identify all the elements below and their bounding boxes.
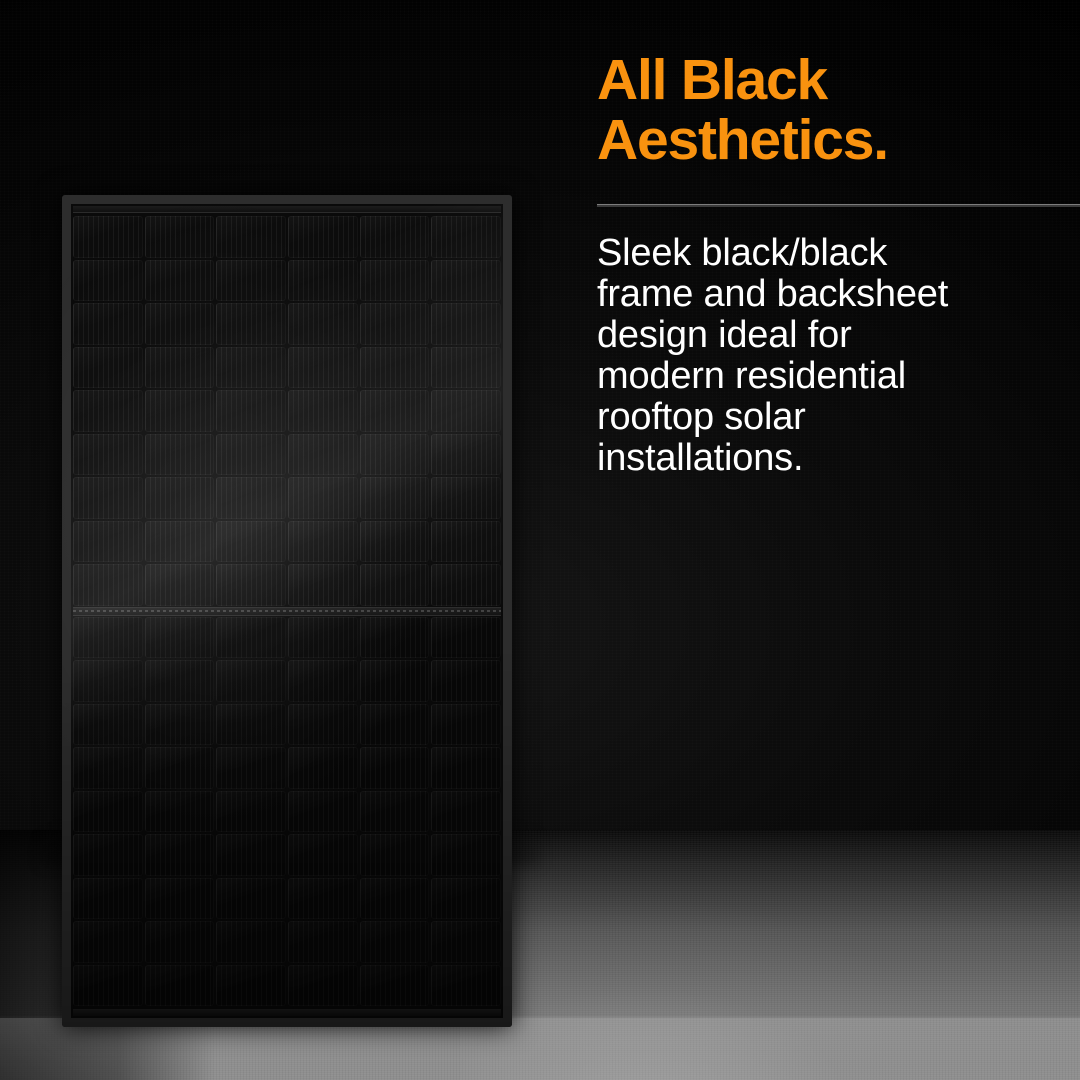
- solar-cell: [73, 791, 143, 833]
- solar-cell: [73, 521, 143, 563]
- solar-cell: [360, 477, 430, 519]
- panel-laminate-area: [71, 204, 503, 1018]
- solar-cell: [73, 617, 143, 659]
- solar-cell: [145, 564, 215, 606]
- solar-cell: [145, 390, 215, 432]
- solar-cell: [288, 521, 358, 563]
- solar-cell: [73, 564, 143, 606]
- solar-cell: [360, 303, 430, 345]
- solar-cell: [73, 878, 143, 920]
- solar-cell: [145, 260, 215, 302]
- solar-cell: [73, 216, 143, 258]
- cell-row: [73, 433, 501, 477]
- solar-cell: [73, 965, 143, 1007]
- solar-cell: [288, 834, 358, 876]
- headline-divider: [597, 204, 1080, 207]
- solar-cell: [145, 617, 215, 659]
- solar-cell: [431, 791, 501, 833]
- solar-cell: [360, 965, 430, 1007]
- solar-cell: [431, 660, 501, 702]
- solar-cell: [216, 260, 286, 302]
- solar-cell: [216, 477, 286, 519]
- cell-row: [73, 964, 501, 1008]
- body-line-1: Sleek black/black: [597, 233, 1067, 274]
- solar-cell: [73, 347, 143, 389]
- solar-cell: [216, 617, 286, 659]
- solar-cell: [145, 521, 215, 563]
- solar-cell: [73, 834, 143, 876]
- cell-row: [73, 389, 501, 433]
- solar-cell: [73, 747, 143, 789]
- solar-cell: [216, 216, 286, 258]
- solar-cell: [431, 564, 501, 606]
- solar-cell: [360, 260, 430, 302]
- panel-center-busbar: [73, 607, 501, 616]
- solar-cell: [145, 878, 215, 920]
- solar-cell: [431, 747, 501, 789]
- cell-row: [73, 833, 501, 877]
- solar-cell: [360, 564, 430, 606]
- solar-cell: [360, 216, 430, 258]
- solar-cell: [431, 617, 501, 659]
- solar-cell: [145, 791, 215, 833]
- solar-cell: [288, 791, 358, 833]
- text-content-column: All Black Aesthetics. Sleek black/black …: [597, 0, 1080, 1080]
- solar-cell: [73, 477, 143, 519]
- body-copy: Sleek black/black frame and backsheet de…: [597, 233, 1067, 479]
- solar-cell: [216, 921, 286, 963]
- solar-cell: [216, 434, 286, 476]
- solar-cell: [360, 921, 430, 963]
- solar-cell: [431, 216, 501, 258]
- solar-cell: [73, 390, 143, 432]
- solar-cell: [431, 434, 501, 476]
- cell-row: [73, 703, 501, 747]
- solar-cell: [288, 660, 358, 702]
- body-line-6: installations.: [597, 438, 1067, 479]
- solar-cell: [145, 747, 215, 789]
- body-line-3: design ideal for: [597, 315, 1067, 356]
- cell-row: [73, 520, 501, 564]
- solar-cell: [360, 660, 430, 702]
- panel-bottom-busbar: [73, 1009, 501, 1016]
- cell-row: [73, 746, 501, 790]
- cell-row: [73, 920, 501, 964]
- solar-cell: [145, 216, 215, 258]
- solar-cell: [431, 878, 501, 920]
- cell-half-lower: [73, 616, 501, 1008]
- headline-line-2: Aesthetics.: [597, 110, 997, 170]
- solar-cell: [431, 521, 501, 563]
- body-line-4: modern residential: [597, 356, 1067, 397]
- solar-cell: [288, 260, 358, 302]
- scene-stage: All Black Aesthetics. Sleek black/black …: [0, 0, 1080, 1080]
- solar-cell: [360, 390, 430, 432]
- cell-row: [73, 616, 501, 660]
- solar-cell: [288, 704, 358, 746]
- solar-cell: [288, 477, 358, 519]
- panel-top-busbar: [73, 206, 501, 213]
- cell-row: [73, 659, 501, 703]
- solar-cell: [288, 921, 358, 963]
- solar-cell: [288, 747, 358, 789]
- solar-cell: [145, 660, 215, 702]
- solar-cell: [216, 747, 286, 789]
- solar-cell: [73, 704, 143, 746]
- headline: All Black Aesthetics.: [597, 50, 997, 170]
- solar-cell: [216, 704, 286, 746]
- solar-cell: [288, 878, 358, 920]
- solar-cell: [216, 303, 286, 345]
- solar-cell: [431, 834, 501, 876]
- solar-cell: [145, 704, 215, 746]
- solar-cell: [145, 434, 215, 476]
- solar-cell: [360, 617, 430, 659]
- solar-cell: [216, 791, 286, 833]
- solar-cell: [288, 390, 358, 432]
- solar-cell: [145, 347, 215, 389]
- cell-row: [73, 215, 501, 259]
- solar-cell: [216, 390, 286, 432]
- solar-cell: [73, 921, 143, 963]
- solar-cell: [431, 260, 501, 302]
- solar-cell-grid: [73, 215, 501, 1007]
- solar-cell: [360, 347, 430, 389]
- solar-cell: [145, 477, 215, 519]
- solar-cell: [216, 521, 286, 563]
- solar-cell: [288, 303, 358, 345]
- cell-half-upper: [73, 215, 501, 607]
- solar-cell: [216, 347, 286, 389]
- solar-cell: [145, 965, 215, 1007]
- solar-cell: [360, 521, 430, 563]
- cell-row: [73, 259, 501, 303]
- solar-cell: [73, 434, 143, 476]
- body-line-2: frame and backsheet: [597, 274, 1067, 315]
- solar-cell: [145, 834, 215, 876]
- cell-row: [73, 302, 501, 346]
- solar-panel-product-image: [62, 195, 512, 1027]
- solar-cell: [216, 834, 286, 876]
- solar-cell: [73, 260, 143, 302]
- solar-cell: [288, 617, 358, 659]
- solar-cell: [431, 303, 501, 345]
- cell-row: [73, 877, 501, 921]
- solar-cell: [431, 347, 501, 389]
- cell-row: [73, 476, 501, 520]
- solar-cell: [288, 434, 358, 476]
- solar-cell: [360, 834, 430, 876]
- solar-cell: [288, 564, 358, 606]
- solar-cell: [145, 921, 215, 963]
- solar-cell: [288, 347, 358, 389]
- solar-cell: [73, 303, 143, 345]
- solar-cell: [216, 878, 286, 920]
- solar-cell: [145, 303, 215, 345]
- cell-row: [73, 346, 501, 390]
- solar-cell: [431, 965, 501, 1007]
- solar-cell: [360, 747, 430, 789]
- solar-cell: [73, 660, 143, 702]
- solar-cell: [360, 791, 430, 833]
- solar-cell: [360, 878, 430, 920]
- solar-cell: [360, 434, 430, 476]
- cell-row: [73, 790, 501, 834]
- solar-cell: [288, 965, 358, 1007]
- solar-cell: [288, 216, 358, 258]
- headline-line-1: All Black: [597, 50, 997, 110]
- solar-cell: [431, 704, 501, 746]
- solar-cell: [216, 965, 286, 1007]
- solar-cell: [216, 564, 286, 606]
- solar-cell: [431, 921, 501, 963]
- solar-cell: [216, 660, 286, 702]
- solar-cell: [431, 390, 501, 432]
- body-line-5: rooftop solar: [597, 397, 1067, 438]
- solar-cell: [360, 704, 430, 746]
- solar-cell: [431, 477, 501, 519]
- cell-row: [73, 563, 501, 607]
